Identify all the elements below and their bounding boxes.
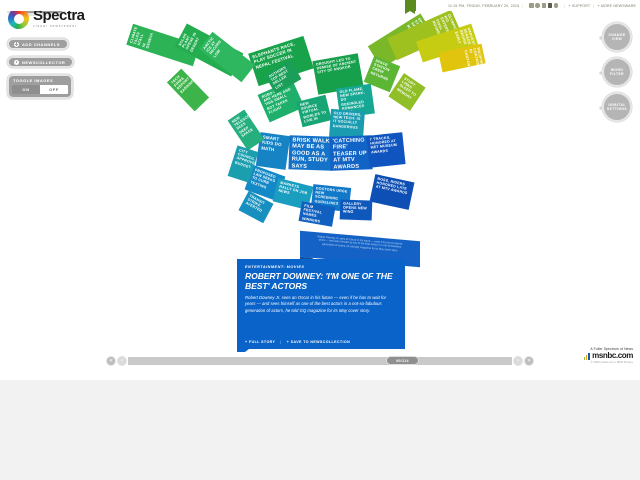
folded-preview-text: Robert Downey Jr. sees an Oscar in his f… xyxy=(317,235,402,252)
word-filter-button[interactable]: WORD FILTER xyxy=(602,57,632,87)
facebook-icon[interactable] xyxy=(548,3,553,8)
headline-tile[interactable]: OLD DRIVERS, NEW TECH: IS IT SOCIALLY DA… xyxy=(329,109,365,139)
full-story-plus-icon: + xyxy=(245,340,248,344)
top-bar: 11:15 PM, FRIDAY, FEBRUARY 20, 2015 | | … xyxy=(0,0,640,11)
change-view-button[interactable]: CHANGE VIEW xyxy=(602,22,632,52)
plus-icon xyxy=(14,42,19,47)
article-title: ROBERT DOWNEY: 'I'M ONE OF THE BEST' ACT… xyxy=(245,272,397,291)
spectra-ring-icon xyxy=(8,8,29,29)
nav-last-button[interactable]: » xyxy=(524,356,534,366)
add-channels-label: ADD CHANNELS xyxy=(22,42,60,47)
spectra-app: 11:15 PM, FRIDAY, FEBRUARY 20, 2015 | | … xyxy=(0,0,640,380)
more-newsware-link[interactable]: MORE NEWSWARE xyxy=(601,4,636,8)
topbar-separator-2: | xyxy=(564,4,565,8)
story-counter: 90/114 xyxy=(386,356,419,365)
full-story-link[interactable]: FULL STORY xyxy=(249,340,275,344)
nav-prev-button[interactable]: ‹ xyxy=(117,356,127,366)
headline-tile[interactable]: BRISK WALK MAY BE AS GOOD AS A RUN, STUD… xyxy=(288,135,333,171)
toggle-images-control[interactable]: TOGGLE IMAGES ON OFF xyxy=(7,74,73,99)
current-datetime: 11:15 PM, FRIDAY, FEBRUARY 20, 2015 xyxy=(448,4,519,8)
headline-tile[interactable]: NEW SOURCE VIRTUAL WORLDS TO LIVE IN xyxy=(296,95,331,127)
headline-tile[interactable]: 7 TRACKS, HONORED AT MET MUSEUM AWARDS xyxy=(366,132,405,168)
msnbc-bars-icon xyxy=(584,353,591,360)
article-body: Robert Downey Jr. sees an Oscar in his f… xyxy=(245,295,397,314)
article-kicker: ENTERTAINMENT: MOVIES xyxy=(245,265,397,269)
social-icon-group xyxy=(529,3,558,8)
toggle-off-option[interactable]: OFF xyxy=(40,85,68,94)
news-collector-label: NEWSCOLLECTOR xyxy=(22,60,65,65)
app-logo[interactable]: beta Spectra visual newsreader xyxy=(8,8,85,29)
save-plus-icon: + xyxy=(287,340,290,344)
msnbc-logo-row[interactable]: msnbc.com xyxy=(584,352,633,360)
brand-tagline: visual newsreader xyxy=(33,24,85,28)
action-separator: | xyxy=(280,340,281,344)
twitter-icon[interactable] xyxy=(554,3,559,8)
toggle-switch[interactable]: ON OFF xyxy=(12,85,68,94)
brand-name: Spectra xyxy=(33,9,85,23)
share-icon[interactable] xyxy=(529,3,534,8)
nav-first-button[interactable]: « xyxy=(106,356,116,366)
support-plus-icon: + xyxy=(568,3,571,8)
comment-icon[interactable] xyxy=(535,3,540,8)
msnbc-wordmark: msnbc.com xyxy=(592,352,633,360)
change-view-nub-icon xyxy=(599,36,603,40)
msnbc-branding: A Fuller Spectrum of News msnbc.com © 20… xyxy=(584,347,633,364)
article-actions: + FULL STORY | + SAVE TO NEWSCOLLECTION xyxy=(245,340,350,344)
toggle-on-option[interactable]: ON xyxy=(12,85,40,94)
green-flag-marker xyxy=(405,0,416,11)
logo-wordmark: beta Spectra visual newsreader xyxy=(33,9,85,28)
msnbc-copyright: © 2008 msnbc.com | MSN Privacy xyxy=(584,361,633,364)
orbital-settings-line2: SETTINGS xyxy=(607,107,627,111)
word-filter-line2: FILTER xyxy=(610,72,624,76)
word-filter-nub-icon xyxy=(599,71,603,75)
save-to-newscollection-link[interactable]: SAVE TO NEWSCOLLECTION xyxy=(291,340,350,344)
add-channels-button[interactable]: ADD CHANNELS xyxy=(7,38,69,50)
toggle-images-label: TOGGLE IMAGES xyxy=(13,78,53,83)
orbital-settings-nub-icon xyxy=(599,106,603,110)
digg-icon[interactable] xyxy=(542,3,547,8)
support-link[interactable]: SUPPORT xyxy=(572,4,590,8)
nav-next-button[interactable]: › xyxy=(513,356,523,366)
toggle-images-header: TOGGLE IMAGES xyxy=(12,78,68,83)
headline-tile[interactable]: BOSS, RIDERS HONORED LATE AT MTV AWARDS xyxy=(370,174,415,210)
timeline-scrubber[interactable] xyxy=(128,357,512,365)
change-view-line2: VIEW xyxy=(612,37,622,41)
news-collector-button[interactable]: NEWSCOLLECTOR xyxy=(7,56,74,68)
topbar-separator-3: | xyxy=(593,4,594,8)
article-card[interactable]: ENTERTAINMENT: MOVIES ROBERT DOWNEY: 'I'… xyxy=(237,259,405,349)
orbital-settings-button[interactable]: ORBITAL SETTINGS xyxy=(602,92,632,122)
headline-tile[interactable]: GALLERY OPENS NEW WING xyxy=(340,199,373,220)
topbar-separator-1: | xyxy=(522,4,523,8)
collector-dot-icon xyxy=(14,60,19,65)
more-newsware-plus-icon: + xyxy=(597,3,600,8)
headline-tile[interactable]: TECH FIRMS REPORT EARNINGS xyxy=(167,69,209,112)
